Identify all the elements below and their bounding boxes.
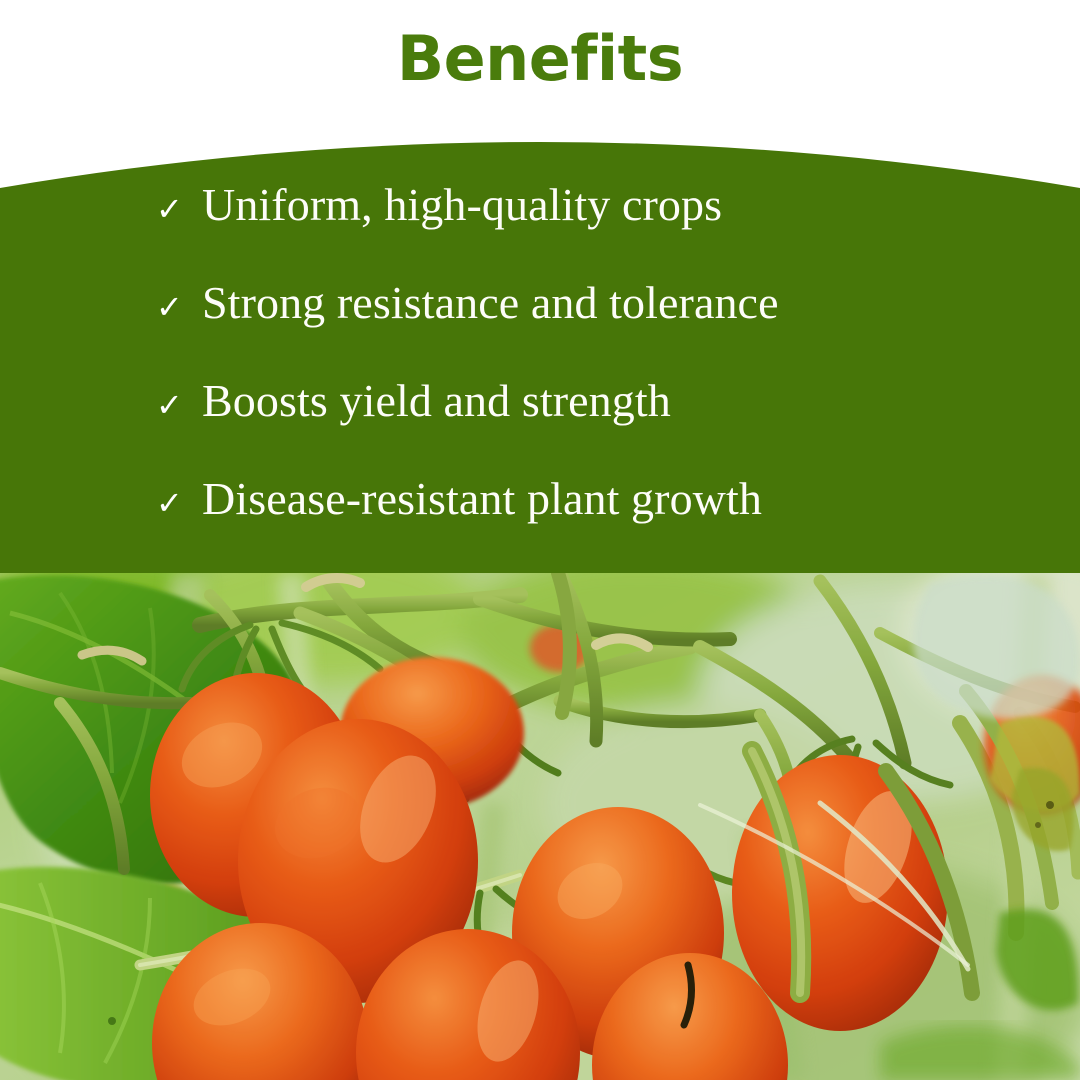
- check-icon: ✓: [156, 487, 202, 519]
- benefit-label: Strong resistance and tolerance: [202, 280, 779, 326]
- check-icon: ✓: [156, 193, 202, 225]
- check-icon: ✓: [156, 389, 202, 421]
- header: Benefits: [0, 0, 1080, 118]
- list-item: ✓ Disease-resistant plant growth: [0, 476, 1080, 574]
- page-title: Benefits: [397, 28, 683, 90]
- benefits-list: ✓ Uniform, high-quality crops ✓ Strong r…: [0, 182, 1080, 574]
- benefits-poster: Benefits ✓ Uniform, high-quality crops ✓…: [0, 0, 1080, 1080]
- check-icon: ✓: [156, 291, 202, 323]
- list-item: ✓ Uniform, high-quality crops: [0, 182, 1080, 280]
- tomato-photo-illustration: [0, 573, 1080, 1080]
- benefit-label: Boosts yield and strength: [202, 378, 671, 424]
- list-item: ✓ Strong resistance and tolerance: [0, 280, 1080, 378]
- benefit-label: Uniform, high-quality crops: [202, 182, 722, 228]
- list-item: ✓ Boosts yield and strength: [0, 378, 1080, 476]
- benefit-label: Disease-resistant plant growth: [202, 476, 762, 522]
- tomato-photo: [0, 573, 1080, 1080]
